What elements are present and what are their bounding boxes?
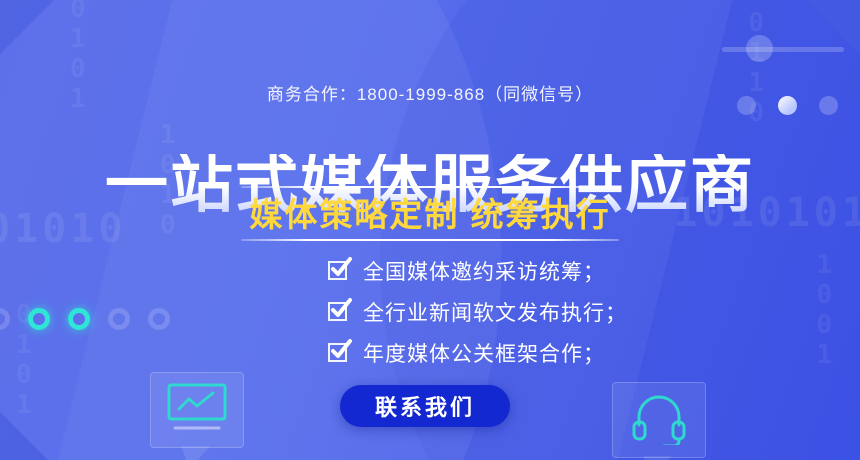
slider-control[interactable] [722, 44, 844, 54]
list-item: 全行业新闻软文发布执行； [328, 291, 627, 332]
monitor-chart-icon [150, 372, 244, 448]
headset-support-icon [612, 382, 706, 458]
feature-list: 全国媒体邀约采访统筹； 全行业新闻软文发布执行； 年度媒体公关框架合作； [328, 250, 627, 373]
subtitle: 媒体策略定制 统筹执行 [241, 188, 619, 239]
check-glyph [329, 297, 353, 321]
feature-label: 全行业新闻软文发布执行； [363, 297, 627, 327]
contact-info-line: 商务合作：1800-1999-868（同微信号） [0, 80, 860, 105]
ring-icon-accent-2 [68, 308, 90, 330]
divider-bottom [241, 239, 619, 241]
feature-label: 全国媒体邀约采访统筹； [363, 256, 605, 286]
ring-icon [0, 308, 10, 330]
subtitle-block: 媒体策略定制 统筹执行 [241, 186, 619, 241]
slider-track [722, 47, 844, 52]
contact-us-button[interactable]: 联系我们 [340, 385, 510, 427]
check-glyph [329, 338, 353, 362]
checkbox-checked-icon [328, 302, 347, 321]
feature-label: 年度媒体公关框架合作； [363, 338, 605, 368]
binary-column-4: 1001 [816, 250, 832, 370]
check-glyph [329, 256, 353, 280]
ring-icon [148, 308, 170, 330]
monitor-chart-glyph [167, 383, 227, 435]
promo-banner: 01010 1010101 0101 1010 0110 1001 0101 [0, 0, 860, 460]
corner-accent-bottom-left [0, 412, 48, 460]
checkbox-checked-icon [328, 261, 347, 280]
decorative-ring-row [0, 308, 170, 330]
headset-glyph [629, 393, 689, 445]
list-item: 年度媒体公关框架合作； [328, 332, 627, 373]
ring-icon-accent-1 [28, 308, 50, 330]
checkbox-checked-icon [328, 343, 347, 362]
list-item: 全国媒体邀约采访统筹； [328, 250, 627, 291]
corner-accent-top-left [0, 0, 54, 54]
slider-knob[interactable] [746, 35, 773, 62]
ring-icon [108, 308, 130, 330]
